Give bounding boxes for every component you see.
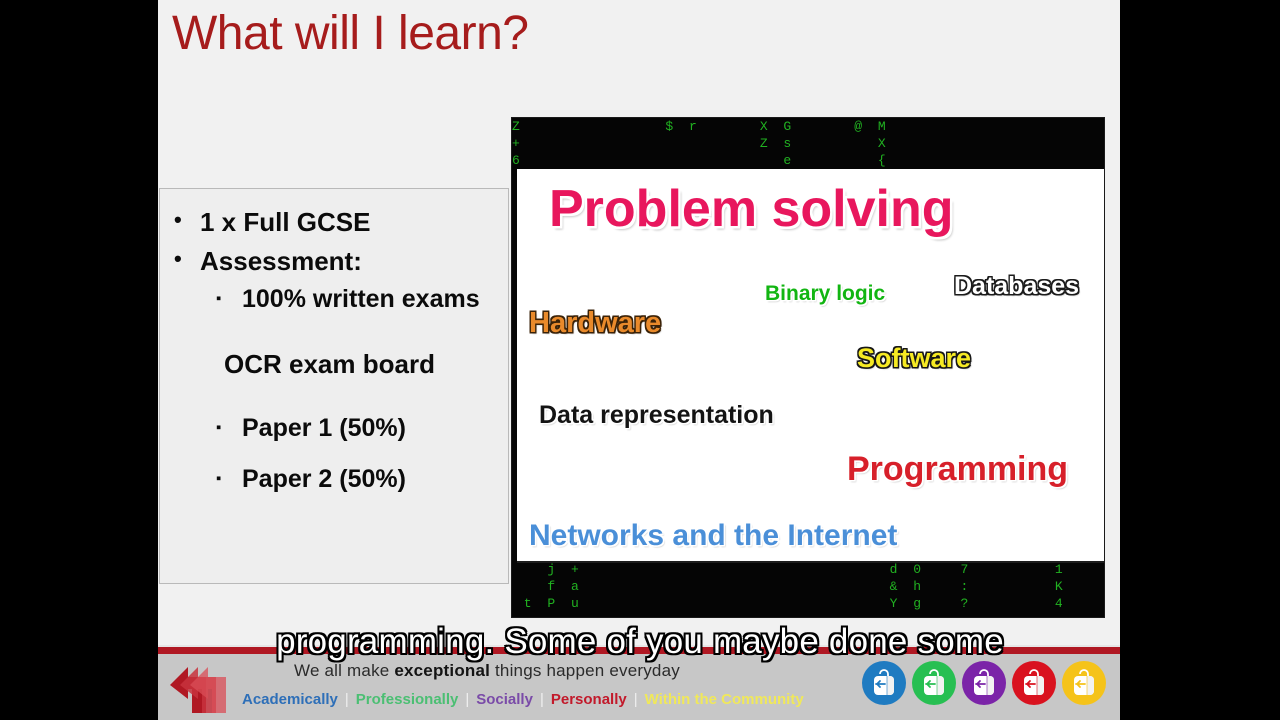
list-item-label: Paper 1 (50%)	[242, 410, 500, 448]
bullet-marker-icon: •	[174, 242, 200, 276]
school-logo-icon	[166, 655, 238, 717]
footer-link-separator: |	[458, 691, 476, 708]
word-cloud-term: Problem solving	[549, 179, 954, 239]
list-item: ▪ 100% written exams	[168, 281, 500, 319]
backpack-icon-red	[1012, 661, 1056, 705]
spacer	[168, 447, 500, 461]
backpack-icon-purple	[962, 661, 1006, 705]
word-cloud-term: Software	[857, 343, 971, 374]
word-cloud-term: Binary logic	[765, 282, 885, 306]
video-frame: What will I learn? • 1 x Full GCSE • Ass…	[0, 0, 1280, 720]
footer-link-professionally[interactable]: Professionally	[356, 691, 459, 708]
list-item: ▪ Paper 1 (50%)	[168, 410, 500, 448]
video-caption: programming. Some of you maybe done some	[0, 622, 1280, 662]
list-item-label: Paper 2 (50%)	[242, 461, 500, 499]
footer-link-separator: |	[533, 691, 551, 708]
footer-badge-row	[862, 661, 1106, 705]
footer-link-socially[interactable]: Socially	[476, 691, 533, 708]
backpack-icon-yellow	[1062, 661, 1106, 705]
tagline-emphasis: exceptional	[394, 661, 490, 680]
word-cloud-term: Data representation	[539, 401, 774, 430]
backpack-glyph	[1021, 669, 1047, 697]
footer-link-separator: |	[627, 691, 645, 708]
word-cloud-term: Hardware	[529, 307, 661, 340]
list-item: ▪ Paper 2 (50%)	[168, 461, 500, 499]
list-item: • 1 x Full GCSE	[168, 203, 500, 242]
bullet-marker-icon: •	[174, 203, 200, 237]
word-cloud-canvas: Problem solvingBinary logicDatabasesHard…	[517, 169, 1104, 563]
slide-content-box: • 1 x Full GCSE • Assessment: ▪ 100% wri…	[159, 188, 509, 584]
list-item: • Assessment:	[168, 242, 500, 281]
list-item-label: Assessment:	[200, 242, 500, 281]
tagline-prefix: We all make	[294, 661, 394, 680]
square-bullet-marker-icon: ▪	[216, 461, 242, 496]
footer-link-academically[interactable]: Academically	[242, 691, 338, 708]
terminal-code-strip-top: Z $ r X G @ M 0 > + Z s X j g ` 6 e {	[512, 118, 1104, 176]
list-item-label: 1 x Full GCSE	[200, 203, 500, 242]
word-cloud-term: Networks and the Internet	[529, 519, 897, 553]
spacer	[168, 384, 500, 410]
presentation-slide: What will I learn? • 1 x Full GCSE • Ass…	[158, 0, 1120, 720]
footer-link-personally[interactable]: Personally	[551, 691, 627, 708]
list-item-label: 100% written exams	[242, 281, 500, 319]
backpack-icon-blue	[862, 661, 906, 705]
backpack-glyph	[921, 669, 947, 697]
footer-tagline: We all make exceptional things happen ev…	[294, 661, 680, 681]
tagline-suffix: things happen everyday	[490, 661, 680, 680]
word-cloud-term: Databases	[954, 272, 1079, 301]
page-title: What will I learn?	[172, 2, 772, 67]
word-cloud-image: Z $ r X G @ M 0 > + Z s X j g ` 6 e {	[512, 118, 1104, 617]
footer-link-within-the-community[interactable]: Within the Community	[645, 691, 804, 708]
backpack-icon-green	[912, 661, 956, 705]
word-cloud-term: Programming	[847, 450, 1068, 489]
backpack-glyph	[871, 669, 897, 697]
spacer	[168, 319, 500, 345]
footer-link-list: Academically|Professionally|Socially|Per…	[242, 691, 804, 708]
square-bullet-marker-icon: ▪	[216, 281, 242, 316]
backpack-glyph	[971, 669, 997, 697]
exam-board-label: OCR exam board	[168, 345, 500, 384]
square-bullet-marker-icon: ▪	[216, 410, 242, 445]
backpack-glyph	[1071, 669, 1097, 697]
footer-link-separator: |	[338, 691, 356, 708]
terminal-code-strip-bottom: j + d 0 7 1 - / u f a & h : K z 0 V t P …	[512, 561, 1104, 617]
